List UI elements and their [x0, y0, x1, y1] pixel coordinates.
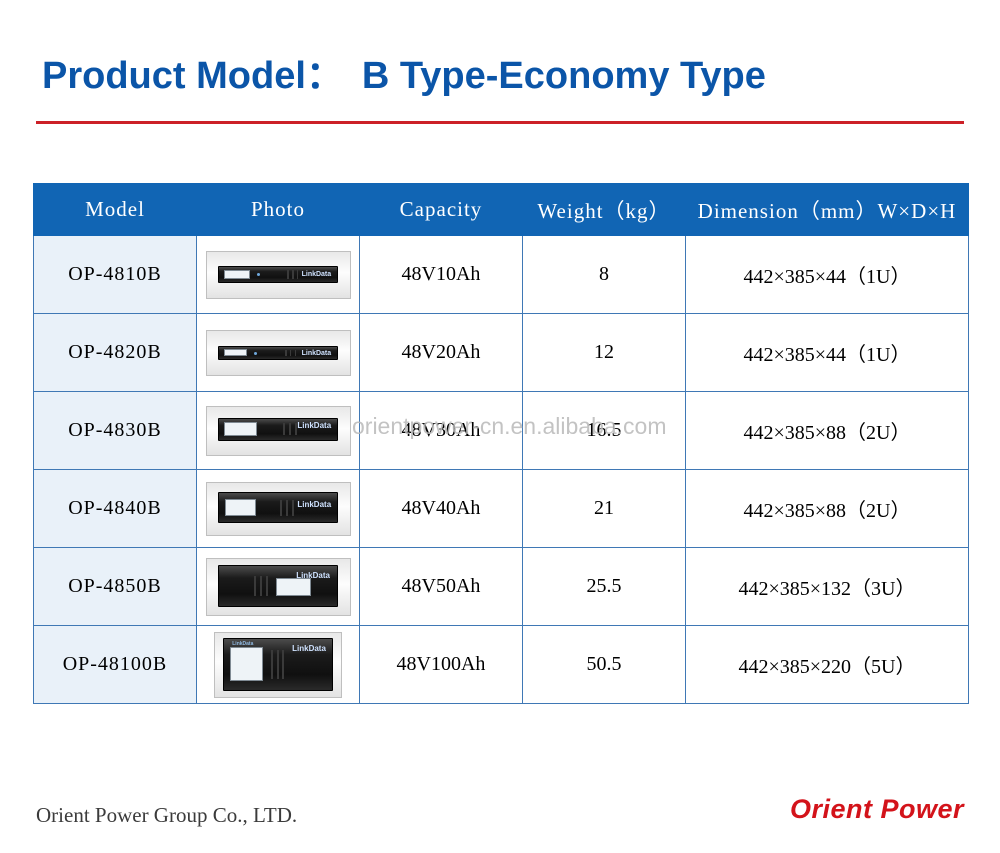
cell-weight: 12: [523, 314, 686, 392]
cell-capacity: 48V10Ah: [360, 236, 523, 314]
cell-dimension: 442×385×44（1U）: [686, 314, 969, 392]
page-title: Product Model：B Type-Economy Type: [42, 44, 766, 99]
brand-logo-text: Orient Power: [790, 794, 964, 825]
cell-weight: 16.5: [523, 392, 686, 470]
cell-dimension: 442×385×44（1U）: [686, 236, 969, 314]
cell-photo: LinkData LinkData: [197, 626, 360, 704]
cell-photo: LinkData: [197, 236, 360, 314]
cell-capacity: 48V50Ah: [360, 548, 523, 626]
page-title-value: B Type-Economy Type: [362, 55, 766, 97]
table-row: OP-4820B LinkData: [34, 314, 969, 392]
cell-capacity: 48V30Ah: [360, 392, 523, 470]
product-photo-2u: LinkData: [206, 482, 351, 536]
product-table-container: Model Photo Capacity Weight（kg） Dimensio…: [33, 183, 968, 704]
column-header-dimension: Dimension（mm）W×D×H: [686, 184, 969, 236]
table-row: OP-4830B LinkData 48V30Ah: [34, 392, 969, 470]
table-row: OP-4840B LinkData 48V40Ah: [34, 470, 969, 548]
title-divider: [36, 121, 964, 124]
cell-weight: 25.5: [523, 548, 686, 626]
footer-company-name: Orient Power Group Co., LTD.: [36, 803, 297, 828]
product-table: Model Photo Capacity Weight（kg） Dimensio…: [33, 183, 969, 704]
cell-dimension: 442×385×88（2U）: [686, 392, 969, 470]
slide-page: Product Model：B Type-Economy Type Model …: [0, 0, 1000, 853]
cell-capacity: 48V40Ah: [360, 470, 523, 548]
cell-model: OP-4840B: [34, 470, 197, 548]
cell-capacity: 48V100Ah: [360, 626, 523, 704]
product-photo-5u: LinkData LinkData: [214, 632, 342, 698]
cell-model: OP-4810B: [34, 236, 197, 314]
cell-weight: 50.5: [523, 626, 686, 704]
page-title-label: Product Model：: [42, 55, 344, 97]
cell-weight: 8: [523, 236, 686, 314]
table-header-row: Model Photo Capacity Weight（kg） Dimensio…: [34, 184, 969, 236]
cell-photo: LinkData: [197, 548, 360, 626]
column-header-capacity: Capacity: [360, 184, 523, 236]
cell-model: OP-4850B: [34, 548, 197, 626]
table-row: OP-4850B LinkData 48V50Ah: [34, 548, 969, 626]
cell-model: OP-4820B: [34, 314, 197, 392]
cell-model: OP-4830B: [34, 392, 197, 470]
cell-weight: 21: [523, 470, 686, 548]
cell-dimension: 442×385×88（2U）: [686, 470, 969, 548]
column-header-photo: Photo: [197, 184, 360, 236]
table-row: OP-4810B LinkData: [34, 236, 969, 314]
column-header-model: Model: [34, 184, 197, 236]
cell-photo: LinkData: [197, 314, 360, 392]
cell-dimension: 442×385×132（3U）: [686, 548, 969, 626]
cell-photo: LinkData: [197, 470, 360, 548]
product-photo-2u: LinkData: [206, 406, 351, 456]
cell-model: OP-48100B: [34, 626, 197, 704]
product-photo-1u: LinkData: [206, 251, 351, 299]
cell-dimension: 442×385×220（5U）: [686, 626, 969, 704]
product-photo-1u: LinkData: [206, 330, 351, 376]
product-photo-3u: LinkData: [206, 558, 351, 616]
cell-photo: LinkData: [197, 392, 360, 470]
cell-capacity: 48V20Ah: [360, 314, 523, 392]
table-row: OP-48100B LinkData LinkData: [34, 626, 969, 704]
column-header-weight: Weight（kg）: [523, 184, 686, 236]
